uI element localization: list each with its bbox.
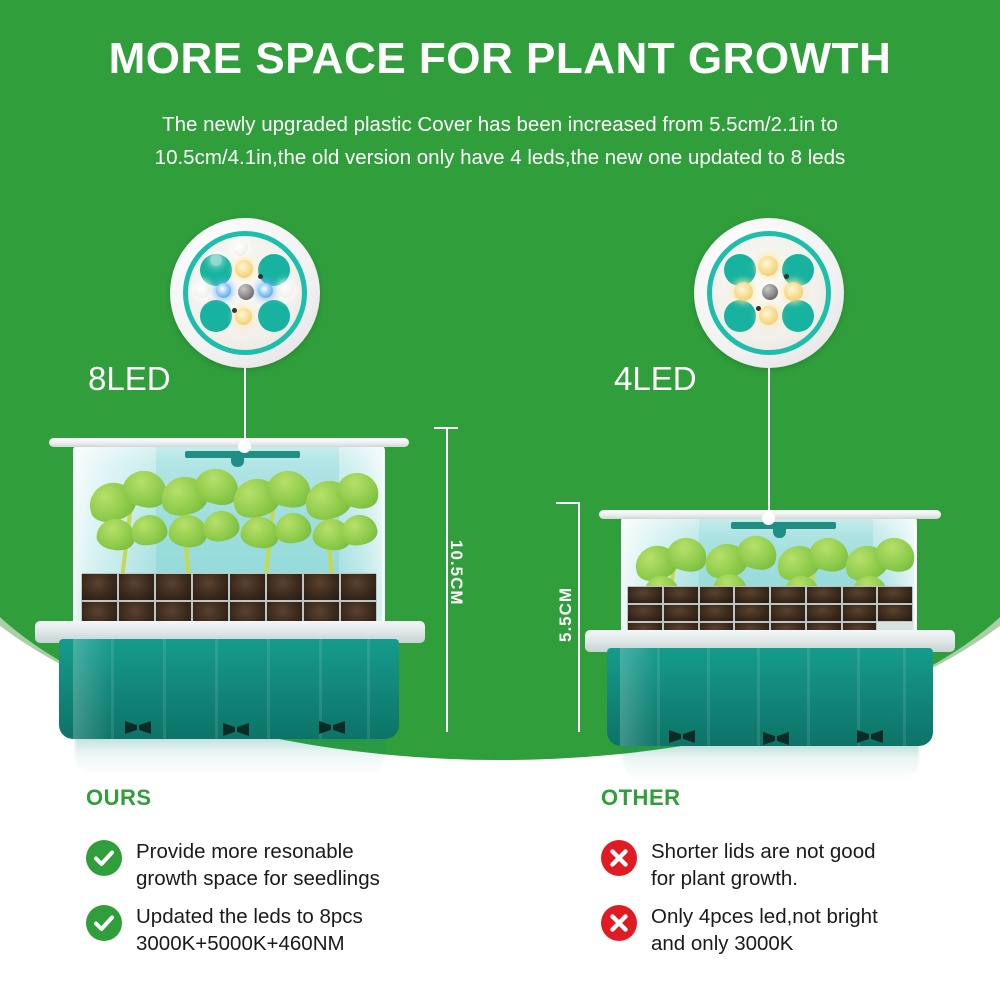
seedling-leaf [273, 511, 313, 546]
seedling-tray-other [585, 498, 955, 760]
base-highlight [620, 648, 659, 746]
tray-foot [763, 732, 789, 745]
tray-reflection-ours [75, 735, 385, 775]
led-screw [756, 306, 761, 311]
base-rib [267, 639, 270, 739]
soil-cell [266, 573, 303, 601]
soil-cell [877, 586, 913, 604]
led-center-module [762, 284, 778, 300]
led-label-8led: 8LED [88, 360, 171, 398]
led-lamp-blue [216, 283, 231, 298]
measure-label-10-5cm: 10.5CM [446, 540, 466, 606]
soil-cell [842, 604, 878, 622]
led-panel-8-icon [170, 218, 320, 368]
led-lamp-warm [758, 256, 778, 276]
column-heading-ours: OURS [86, 785, 152, 811]
soil-cell [770, 586, 806, 604]
tray-reflection-other [623, 742, 919, 780]
base-rib [111, 639, 114, 739]
soil-cell [734, 604, 770, 622]
soil-cell [806, 586, 842, 604]
led-screw [232, 308, 237, 313]
soil-cell [663, 586, 699, 604]
teal-dot [258, 300, 290, 332]
seedling-leaf [167, 513, 208, 549]
check-circle-icon [86, 840, 122, 876]
led-screw [784, 274, 789, 279]
measure-cap-top-other [556, 502, 580, 504]
base-rib [903, 648, 906, 746]
seedling-leaf [200, 508, 241, 545]
soil-cell [627, 604, 663, 622]
list-item-text: Shorter lids are not good for plant grow… [651, 838, 876, 892]
led-lamp-warm [784, 282, 803, 301]
teal-dot [724, 300, 756, 332]
measure-label-5-5cm: 5.5CM [556, 587, 576, 642]
base-highlight [73, 639, 114, 739]
soil-cell [81, 573, 118, 601]
led-lamp-warm [734, 282, 753, 301]
column-heading-other: OTHER [601, 785, 681, 811]
seedling-tray-ours [35, 425, 425, 755]
soil-cell [699, 604, 735, 622]
left-callout-leader-dot [238, 440, 251, 453]
base-rib [757, 648, 760, 746]
dome-top-rim [49, 438, 409, 447]
soil-cell [627, 586, 663, 604]
tray-foot [223, 723, 249, 736]
led-label-4led: 4LED [614, 360, 697, 398]
base-rib [163, 639, 166, 739]
left-callout-leader-line [244, 368, 246, 446]
soil-cell [734, 586, 770, 604]
list-item-other-2: Only 4pces led,not bright and only 3000K [601, 903, 1000, 957]
soil-cell [229, 573, 266, 601]
teal-dot [200, 300, 232, 332]
base-rib [807, 648, 810, 746]
measure-line-other [578, 502, 580, 732]
tray-foot [669, 730, 695, 743]
right-callout-leader-dot [762, 512, 775, 525]
led-lamp-white [232, 240, 248, 256]
seedling-leaf [129, 512, 170, 548]
soil-cell [699, 586, 735, 604]
led-face [188, 236, 302, 350]
list-item-text: Updated the leds to 8pcs 3000K+5000K+460… [136, 903, 363, 957]
led-lamp-white [278, 282, 294, 298]
led-callout-8led [170, 218, 320, 368]
led-face [712, 236, 826, 350]
tray-foot [857, 730, 883, 743]
base-rib [707, 648, 710, 746]
base-rib [367, 639, 370, 739]
soil-cell [770, 604, 806, 622]
led-lamp-white [210, 254, 222, 266]
led-center-module [238, 284, 254, 300]
led-screw [258, 274, 263, 279]
list-item-text: Only 4pces led,not bright and only 3000K [651, 903, 878, 957]
soil-cell [118, 573, 155, 601]
soil-cell [842, 586, 878, 604]
list-item-text: Provide more resonable growth space for … [136, 838, 380, 892]
teal-dot [782, 254, 814, 286]
soil-cell [340, 573, 377, 601]
check-circle-icon [86, 905, 122, 941]
led-lamp-warm [759, 306, 778, 325]
led-panel-4-icon [694, 218, 844, 368]
teal-dot [724, 254, 756, 286]
list-item-ours-2: Updated the leds to 8pcs 3000K+5000K+460… [86, 903, 506, 957]
soil-cell [806, 604, 842, 622]
led-lamp-warm [235, 308, 252, 325]
page-subtitle: The newly upgraded plastic Cover has bee… [50, 108, 950, 174]
led-lamp-white [194, 282, 210, 298]
list-item-ours-1: Provide more resonable growth space for … [86, 838, 506, 892]
cross-circle-icon [601, 905, 637, 941]
led-callout-4led [694, 218, 844, 368]
tray-foot [125, 721, 151, 734]
teal-dot [782, 300, 814, 332]
soil-cell [303, 573, 340, 601]
page-title: MORE SPACE FOR PLANT GROWTH [0, 34, 1000, 84]
infographic-root: MORE SPACE FOR PLANT GROWTH The newly up… [0, 0, 1000, 1000]
list-item-other-1: Shorter lids are not good for plant grow… [601, 838, 1000, 892]
base-rib [657, 648, 660, 746]
soil-cell [877, 604, 913, 622]
led-lamp-warm [235, 260, 253, 278]
base-rib [215, 639, 218, 739]
tray-foot [319, 721, 345, 734]
led-lamp-blue [258, 283, 273, 298]
soil-cell [663, 604, 699, 622]
right-callout-leader-line [768, 368, 770, 518]
soil-cell [192, 573, 229, 601]
cross-circle-icon [601, 840, 637, 876]
soil-cell [155, 573, 192, 601]
